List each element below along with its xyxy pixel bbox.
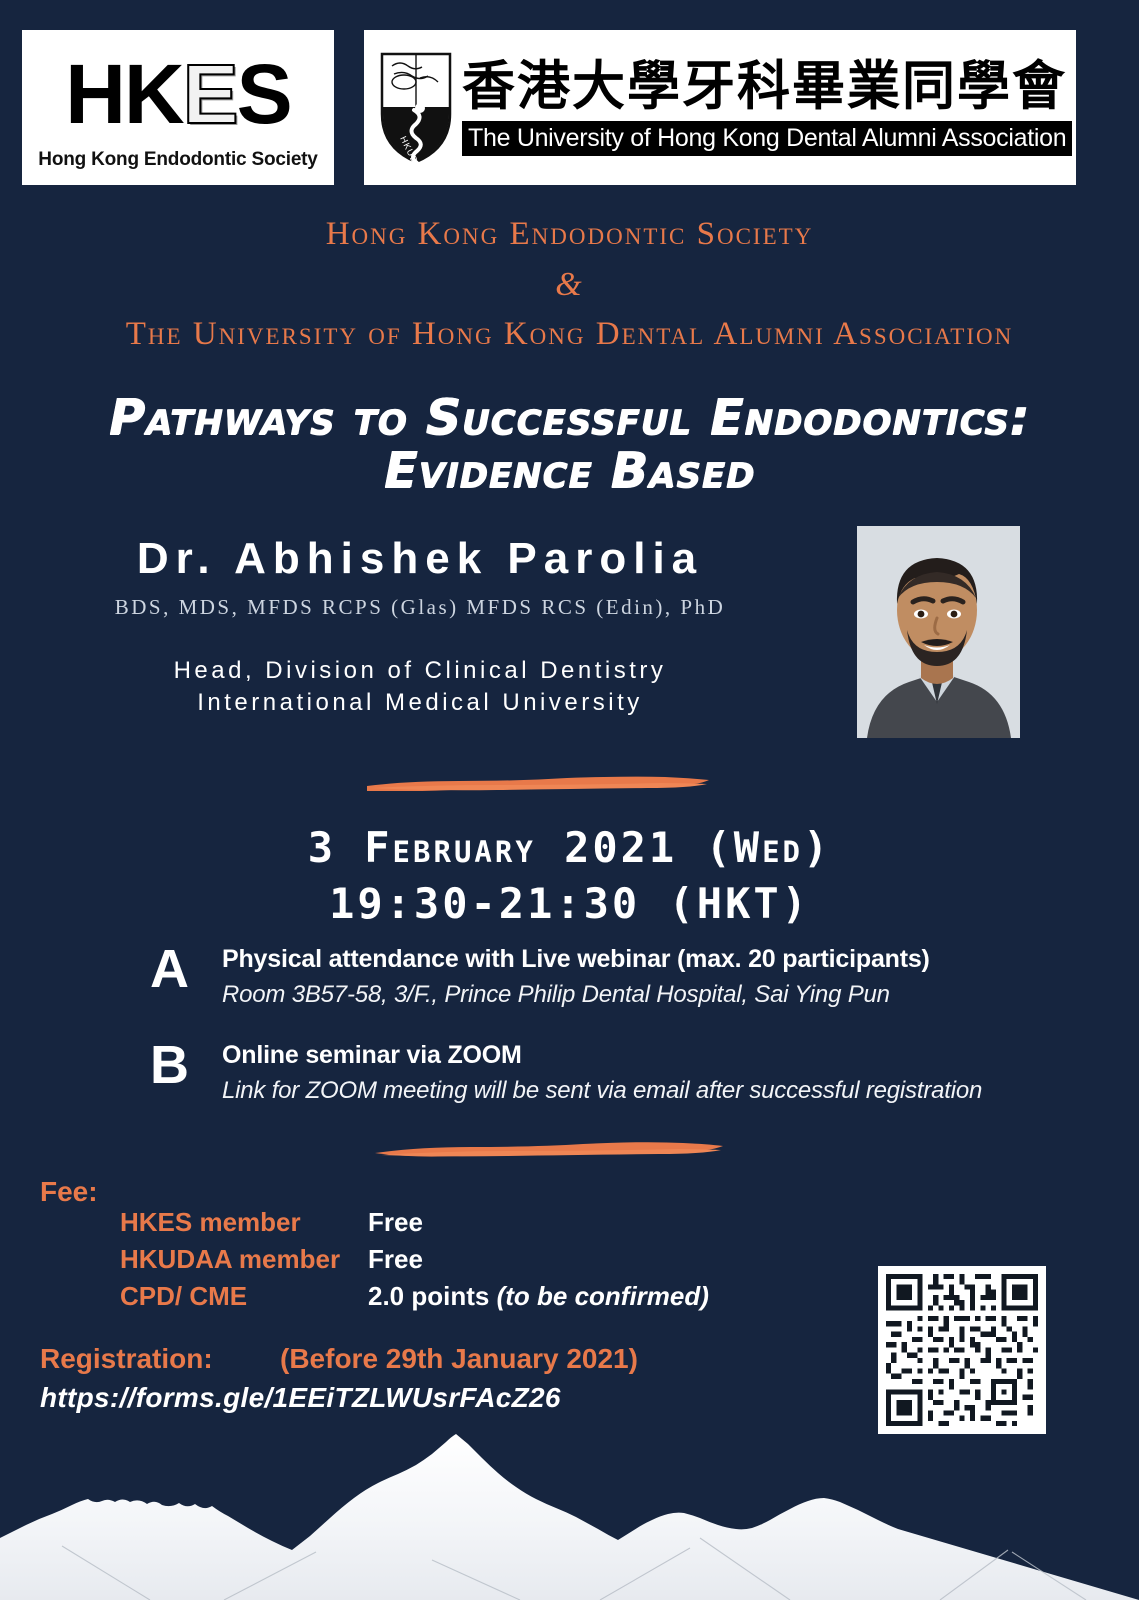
speaker-role: Head, Division of Clinical Dentistry Int… xyxy=(0,655,840,720)
fee-label-cpd: CPD/ CME xyxy=(120,1281,368,1312)
registration-row: Registration: (Before 29th January 2021) xyxy=(40,1343,638,1375)
option-a-detail: Room 3B57-58, 3/F., Prince Philip Dental… xyxy=(222,979,930,1010)
option-b-heading: Online seminar via ZOOM xyxy=(222,1040,982,1071)
fee-value-cpd-note: (to be confirmed) xyxy=(497,1281,709,1311)
registration-deadline: (Before 29th January 2021) xyxy=(280,1343,638,1375)
attendance-option-b: B Online seminar via ZOOM Link for ZOOM … xyxy=(150,1040,982,1106)
registration-qr-code[interactable] xyxy=(878,1266,1046,1434)
speaker-qualifications: BDS, MDS, MFDS RCPS (Glas) MFDS RCS (Edi… xyxy=(0,595,840,620)
hkes-logo: HKES Hong Kong Endodontic Society xyxy=(22,30,334,185)
hkudaa-english-name: The University of Hong Kong Dental Alumn… xyxy=(462,121,1072,156)
hkes-mark-suffix: S xyxy=(237,58,291,130)
fee-label-hkudaa: HKUDAA member xyxy=(120,1244,368,1275)
hkes-mark-boxed-letter: E xyxy=(183,58,237,130)
hkudaa-logo: HKUDAA 香港大學牙科畢業同學會 The University of Hon… xyxy=(364,30,1076,185)
fee-value-hkes: Free xyxy=(368,1207,423,1238)
organiser-line-1: Hong Kong Endodontic Society xyxy=(0,216,1139,253)
option-b-letter: B xyxy=(150,1040,222,1091)
attendance-option-a: A Physical attendance with Live webinar … xyxy=(150,944,930,1010)
fee-heading: Fee: xyxy=(40,1176,98,1208)
poster-root: HKES Hong Kong Endodontic Society xyxy=(0,0,1139,1600)
fee-value-cpd: 2.0 points (to be confirmed) xyxy=(368,1281,709,1312)
speaker-role-line-1: Head, Division of Clinical Dentistry xyxy=(0,655,840,687)
hkes-mark-prefix: HK xyxy=(65,58,182,130)
organiser-ampersand: & xyxy=(0,266,1139,304)
event-time: 19:30-21:30 (HKT) xyxy=(0,876,1139,932)
organiser-line-2: The University of Hong Kong Dental Alumn… xyxy=(0,316,1139,353)
page-title: Pathways to Successful Endodontics: Evid… xyxy=(0,392,1139,498)
brush-divider-top xyxy=(365,774,711,791)
title-line-1: Pathways to Successful Endodontics: xyxy=(0,392,1139,445)
registration-label: Registration: xyxy=(40,1343,280,1375)
speaker-portrait xyxy=(857,526,1020,738)
hku-shield-icon: HKUDAA xyxy=(380,52,452,164)
title-line-2: Evidence Based xyxy=(0,445,1139,498)
option-a-letter: A xyxy=(150,944,222,995)
torn-paper-edge xyxy=(0,1420,1139,1600)
event-datetime: 3 February 2021 (Wed) 19:30-21:30 (HKT) xyxy=(0,820,1139,932)
fee-row: CPD/ CME 2.0 points (to be confirmed) xyxy=(120,1281,709,1312)
registration-url-link[interactable]: https://forms.gle/1EEiTZLWUsrFAcZ26 xyxy=(40,1382,561,1414)
fee-row: HKUDAA member Free xyxy=(120,1244,709,1275)
hkes-logo-subtitle: Hong Kong Endodontic Society xyxy=(38,149,317,171)
speaker-role-line-2: International Medical University xyxy=(0,687,840,719)
fee-table: HKES member Free HKUDAA member Free CPD/… xyxy=(120,1207,709,1318)
fee-value-cpd-points: 2.0 points xyxy=(368,1281,489,1311)
fee-value-hkudaa: Free xyxy=(368,1244,423,1275)
hkes-wordmark: HKES xyxy=(65,45,290,145)
brush-divider-bottom xyxy=(373,1140,725,1157)
hkudaa-chinese-name: 香港大學牙科畢業同學會 xyxy=(462,60,1072,113)
speaker-name: Dr. Abhishek Parolia xyxy=(0,534,840,584)
fee-label-hkes: HKES member xyxy=(120,1207,368,1238)
option-b-detail: Link for ZOOM meeting will be sent via e… xyxy=(222,1075,982,1106)
fee-row: HKES member Free xyxy=(120,1207,709,1238)
option-a-heading: Physical attendance with Live webinar (m… xyxy=(222,944,930,975)
event-date: 3 February 2021 (Wed) xyxy=(0,820,1139,876)
